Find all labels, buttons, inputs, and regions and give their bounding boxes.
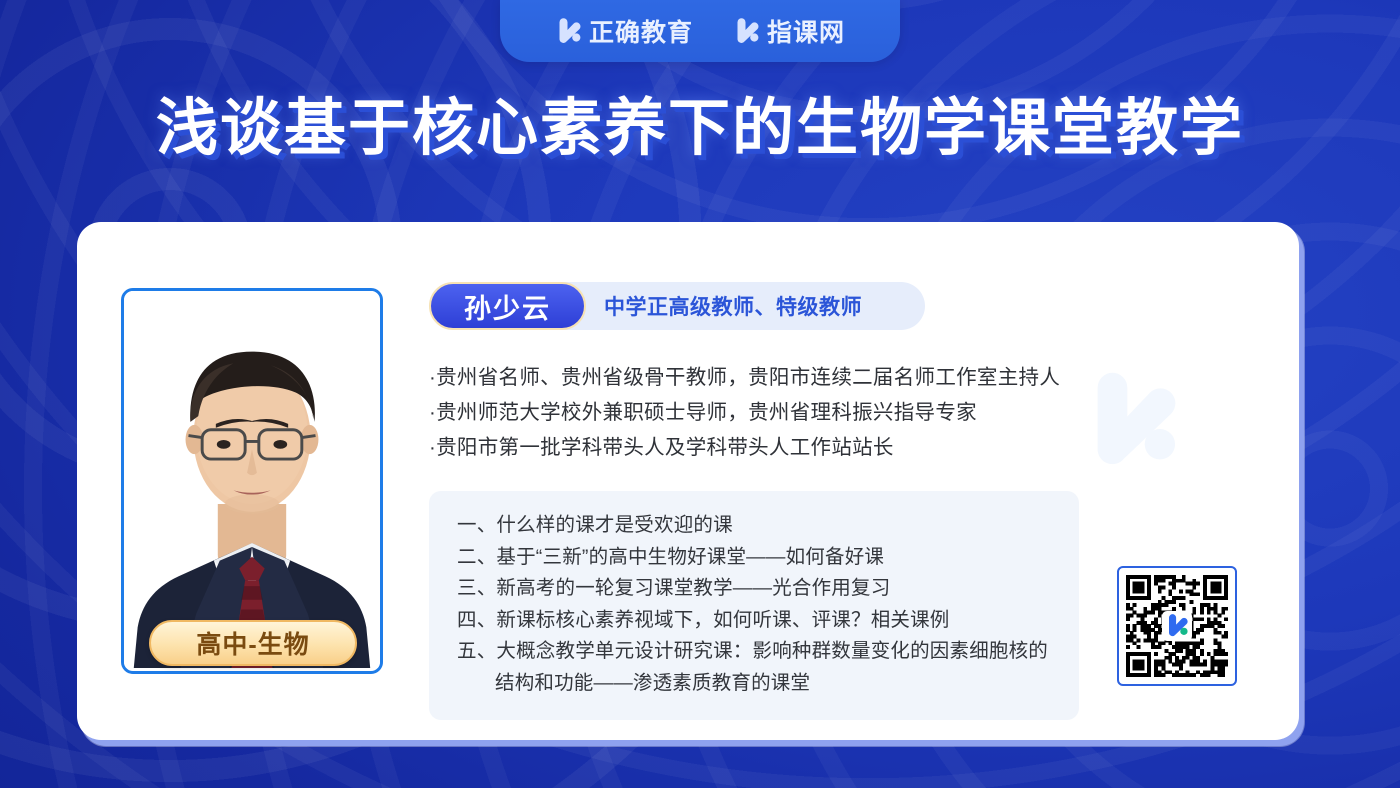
speaker-role: 中学正高级教师、特级教师 [604,282,862,330]
brand-label: 正确教育 [589,13,693,49]
speaker-photo [124,291,380,668]
bio-line: ·贵州省名师、贵州省级骨干教师，贵阳市连续二届名师工作室主持人 [429,360,1259,395]
speaker-card: 高中-生物 孙少云 中学正高级教师、特级教师 ·贵州省名师、贵州省级骨干教师，贵… [77,222,1299,740]
speaker-name: 孙少云 [429,282,586,330]
outline-item-continuation: 结构和功能——渗透素质教育的课堂 [457,668,1057,700]
qr-center-logo [1162,611,1192,641]
brand-label: 指课网 [767,13,845,49]
course-outline-panel: 一、什么样的课才是受欢迎的课 二、基于“三新”的高中生物好课堂——如何备好课 三… [429,491,1079,720]
subject-badge: 高中-生物 [149,620,357,666]
brand-tab: 正确教育 指课网 [500,0,900,62]
outline-item: 三、新高考的一轮复习课堂教学——光合作用复习 [457,573,1057,605]
outline-item: 一、什么样的课才是受欢迎的课 [457,510,1057,542]
bio-line: ·贵州师范大学校外兼职硕士导师，贵州省理科振兴指导专家 [429,395,1259,430]
brand-zhengque: 正确教育 [555,13,693,49]
k-logo-icon [733,18,760,45]
outline-item: 四、新课标核心素养视域下，如何听课、评课？相关课例 [457,605,1057,637]
qr-code[interactable] [1117,566,1237,686]
k-logo-icon [1165,614,1189,638]
outline-item: 二、基于“三新”的高中生物好课堂——如何备好课 [457,542,1057,574]
outline-item: 五、大概念教学单元设计研究课：影响种群数量变化的因素细胞核的 [457,636,1057,668]
bio-line: ·贵阳市第一批学科带头人及学科带头人工作站站长 [429,430,1259,465]
speaker-photo-frame [121,288,383,674]
brand-zhike: 指课网 [733,13,845,49]
speaker-name-row: 孙少云 中学正高级教师、特级教师 [429,282,1259,330]
k-logo-icon [555,18,582,45]
speaker-bio: ·贵州省名师、贵州省级骨干教师，贵阳市连续二届名师工作室主持人 ·贵州师范大学校… [429,360,1259,465]
page-title: 浅谈基于核心素养下的生物学课堂教学 [0,98,1400,160]
